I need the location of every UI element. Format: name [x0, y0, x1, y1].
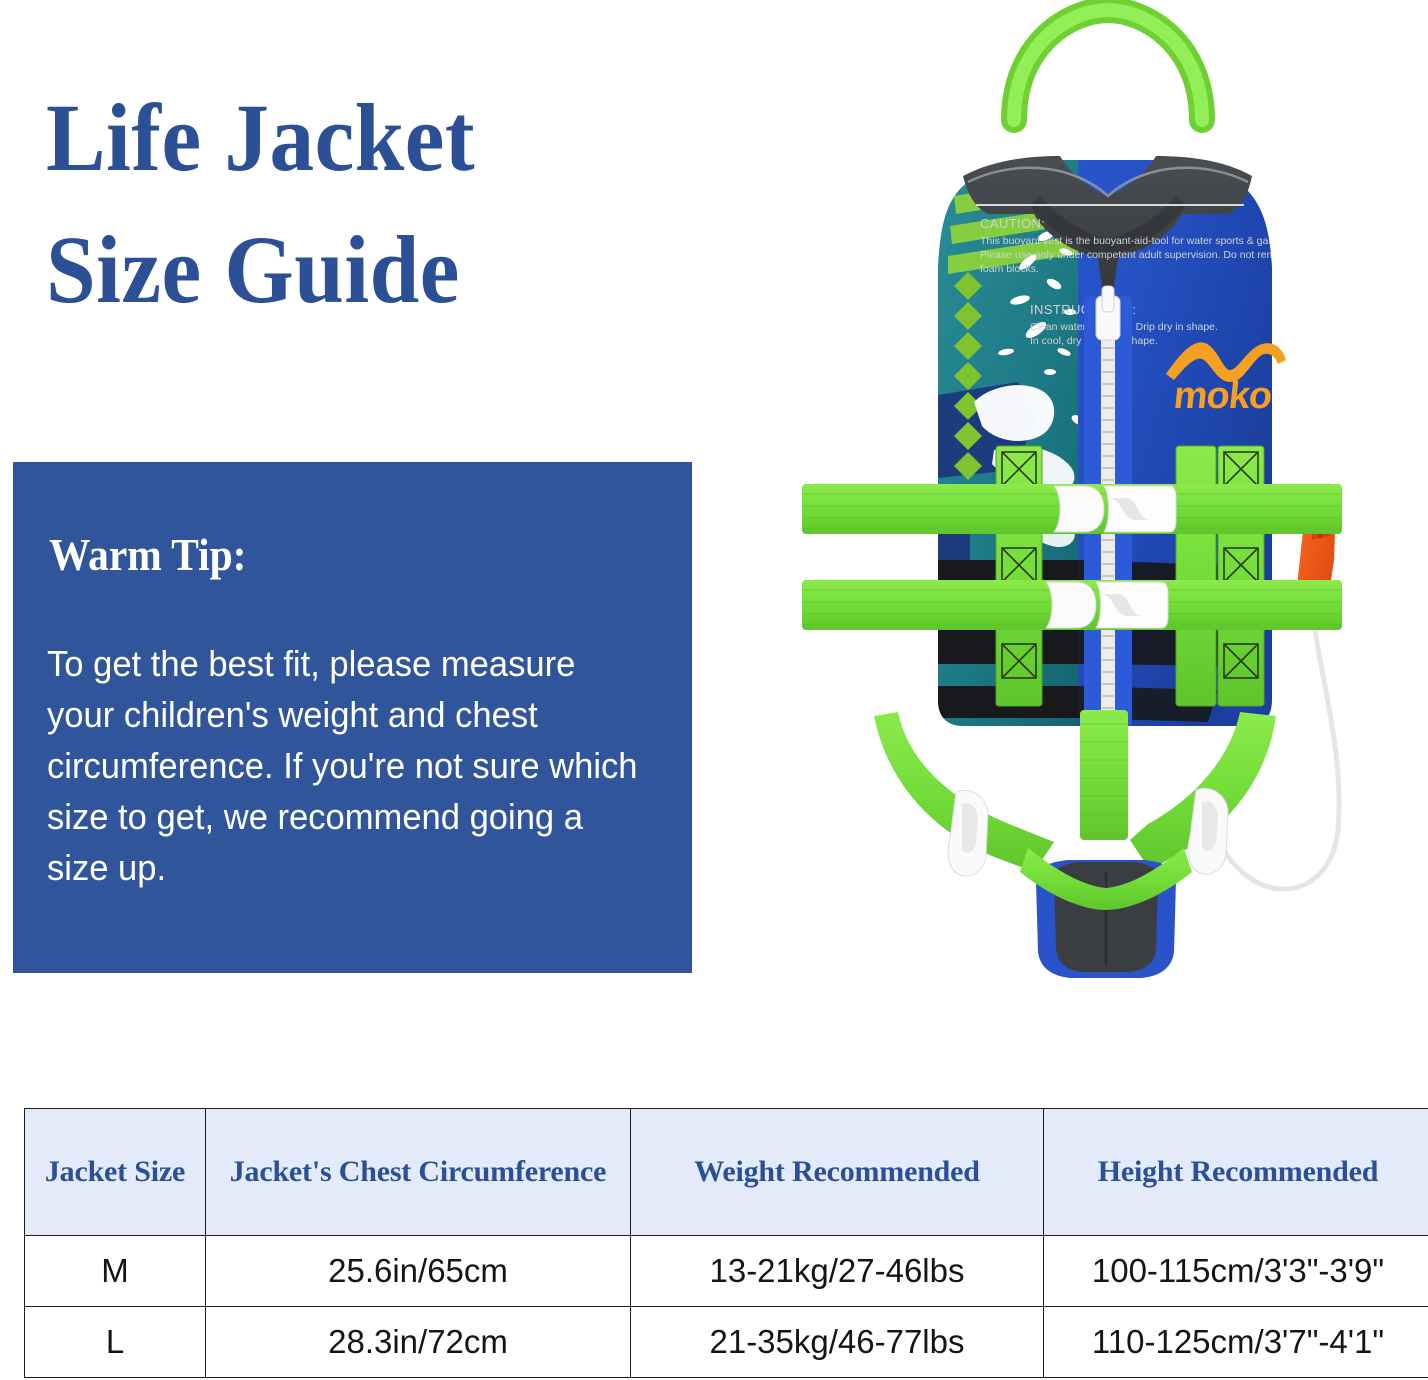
size-guide-table: Jacket Size Jacket's Chest Circumference…: [24, 1108, 1428, 1378]
column-header-chest: Jacket's Chest Circumference: [206, 1109, 631, 1236]
chest-strap-lower: [802, 580, 1342, 630]
cell-height: 110-125cm/3'7"-4'1": [1044, 1307, 1428, 1378]
svg-text:CAUTION:: CAUTION:: [980, 216, 1045, 231]
carry-handle-icon: [1014, 10, 1202, 120]
cell-chest: 25.6in/65cm: [206, 1236, 631, 1307]
column-header-height: Height Recommended: [1044, 1109, 1428, 1236]
buckle-lower-icon: [1046, 582, 1168, 628]
cell-chest: 28.3in/72cm: [206, 1307, 631, 1378]
table-row: M 25.6in/65cm 13-21kg/27-46lbs 100-115cm…: [25, 1236, 1428, 1307]
cell-height: 100-115cm/3'3"-3'9": [1044, 1236, 1428, 1307]
svg-text:Please use only under competen: Please use only under competent adult su…: [980, 249, 1292, 261]
cell-size: L: [25, 1307, 206, 1378]
column-header-jacket-size: Jacket Size: [25, 1109, 206, 1236]
cell-weight: 21-35kg/46-77lbs: [631, 1307, 1044, 1378]
warm-tip-heading: Warm Tip:: [49, 528, 246, 581]
product-image-life-jacket: CAUTION: This buoyant vest is the buoyan…: [778, 0, 1428, 1085]
cell-weight: 13-21kg/27-46lbs: [631, 1236, 1044, 1307]
crotch-strap: [874, 710, 1276, 978]
svg-text:This buoyant vest is the buoya: This buoyant vest is the buoyant-aid-too…: [980, 235, 1291, 247]
svg-text:moko: moko: [1172, 375, 1274, 417]
buckle-right-leg-icon: [1188, 788, 1228, 874]
chest-strap-upper: [802, 484, 1342, 534]
buckle-upper-icon: [1054, 486, 1176, 532]
table-row: L 28.3in/72cm 21-35kg/46-77lbs 110-125cm…: [25, 1307, 1428, 1378]
column-header-weight: Weight Recommended: [631, 1109, 1044, 1236]
svg-text:foam blocks.: foam blocks.: [980, 263, 1039, 275]
buckle-left-leg-icon: [948, 790, 988, 876]
warm-tip-body: To get the best fit, please measure your…: [47, 638, 652, 893]
cell-size: M: [25, 1236, 206, 1307]
table-header-row: Jacket Size Jacket's Chest Circumference…: [25, 1109, 1428, 1236]
page-title: Life Jacket Size Guide: [46, 72, 697, 337]
warm-tip-panel: Warm Tip: To get the best fit, please me…: [13, 462, 692, 973]
